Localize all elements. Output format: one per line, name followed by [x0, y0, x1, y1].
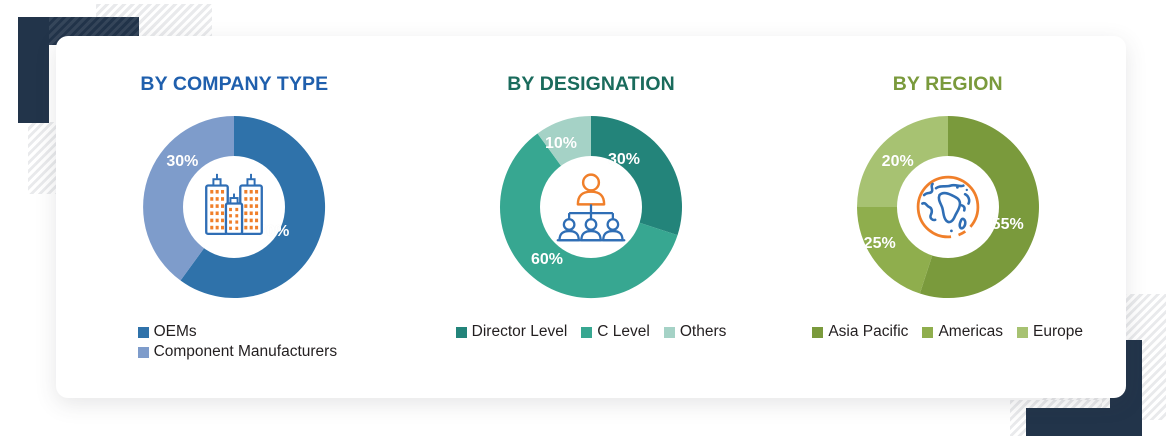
legend-label: Others: [680, 323, 727, 341]
legend-swatch-icon: [1017, 327, 1028, 338]
legend-item-others[interactable]: Others: [664, 323, 727, 341]
legend-label: Component Manufacturers: [154, 343, 338, 361]
legend-item-component-manufacturers[interactable]: Component Manufacturers: [138, 343, 338, 361]
legend-swatch-icon: [581, 327, 592, 338]
legend-region: Asia Pacific Americas Europe: [812, 323, 1083, 341]
legend-item-americas[interactable]: Americas: [922, 323, 1003, 341]
legend-company-type: OEMs Component Manufacturers: [138, 323, 338, 361]
donut-designation: 30% 60% 10%: [495, 111, 687, 303]
legend-label: C Level: [597, 323, 650, 341]
chart-title-company-type: BY COMPANY TYPE: [140, 73, 328, 96]
legend-swatch-icon: [922, 327, 933, 338]
slice-label-asia-pacific: 55%: [992, 216, 1024, 234]
legend-label: OEMs: [154, 323, 197, 341]
slice-label-others: 10%: [545, 135, 577, 153]
legend-label: Europe: [1033, 323, 1083, 341]
donut-region: 55% 25% 20%: [852, 111, 1044, 303]
chart-title-designation: BY DESIGNATION: [507, 73, 675, 96]
legend-swatch-icon: [456, 327, 467, 338]
legend-item-europe[interactable]: Europe: [1017, 323, 1083, 341]
infographic-canvas: BY COMPANY TYPE 70% 30%: [0, 0, 1170, 444]
legend-item-director-level[interactable]: Director Level: [456, 323, 568, 341]
charts-card: BY COMPANY TYPE 70% 30%: [56, 36, 1126, 398]
slice-label-americas: 25%: [864, 235, 896, 253]
legend-item-asia-pacific[interactable]: Asia Pacific: [812, 323, 908, 341]
legend-item-c-level[interactable]: C Level: [581, 323, 650, 341]
chart-company-type: BY COMPANY TYPE 70% 30%: [56, 36, 413, 398]
legend-swatch-icon: [138, 327, 149, 338]
chart-region: BY REGION 55% 25% 20%: [769, 36, 1126, 398]
chart-designation: BY DESIGNATION 30% 60% 10%: [413, 36, 770, 398]
chart-title-region: BY REGION: [893, 73, 1003, 96]
legend-item-oems[interactable]: OEMs: [138, 323, 197, 341]
globe-icon: [900, 159, 996, 255]
legend-designation: Director Level C Level Others: [456, 323, 727, 341]
legend-swatch-icon: [664, 327, 675, 338]
charts-row: BY COMPANY TYPE 70% 30%: [56, 36, 1126, 398]
organization-hierarchy-icon: [543, 159, 639, 255]
legend-swatch-icon: [138, 347, 149, 358]
legend-label: Director Level: [472, 323, 568, 341]
legend-label: Asia Pacific: [828, 323, 908, 341]
office-buildings-icon: [186, 159, 282, 255]
legend-swatch-icon: [812, 327, 823, 338]
legend-label: Americas: [938, 323, 1003, 341]
donut-company-type: 70% 30%: [138, 111, 330, 303]
